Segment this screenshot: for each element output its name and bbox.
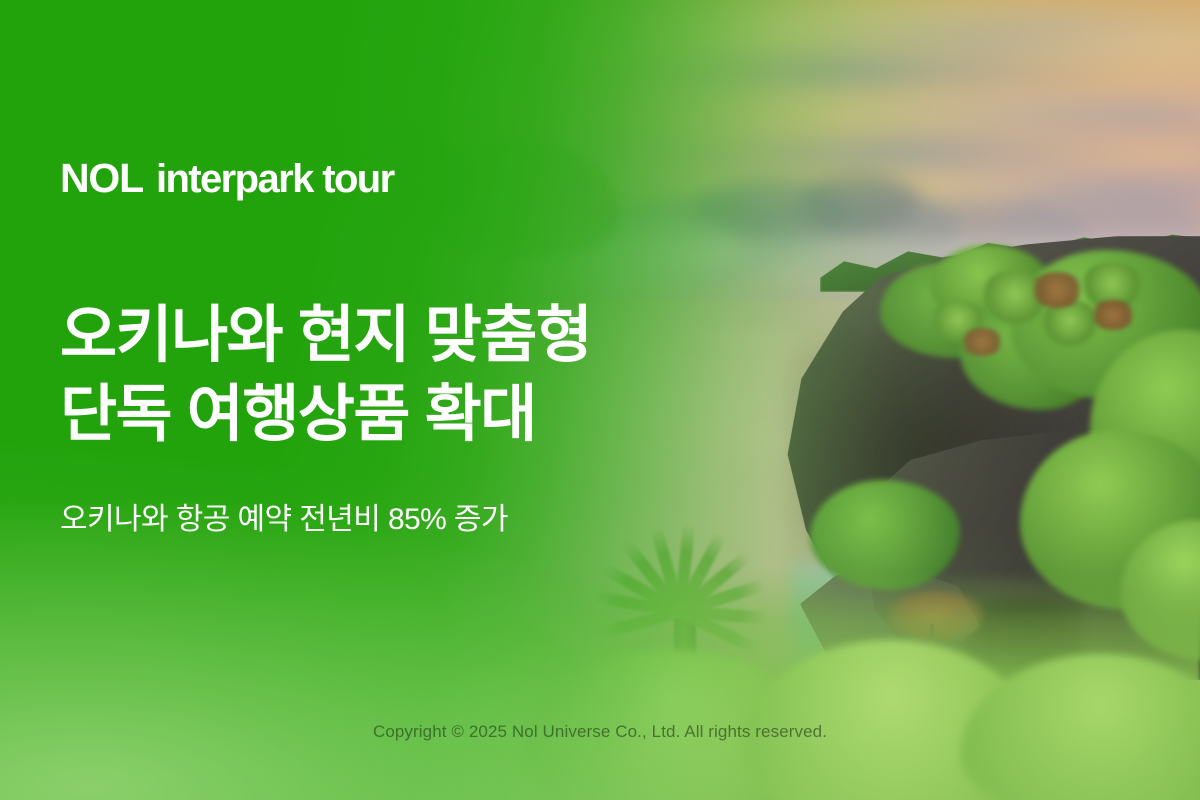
promo-banner: NOL interpark tour 오키나와 현지 맞춤형 단독 여행상품 확… bbox=[0, 0, 1200, 800]
headline-line-1: 오키나와 현지 맞춤형 bbox=[60, 296, 591, 375]
brand-logo[interactable]: NOL interpark tour bbox=[60, 158, 394, 199]
logo-interpark-tour-text: interpark tour bbox=[156, 159, 394, 199]
subheadline: 오키나와 항공 예약 전년비 85% 증가 bbox=[60, 500, 508, 541]
logo-nol-text: NOL bbox=[60, 158, 143, 199]
copyright-notice: Copyright © 2025 Nol Universe Co., Ltd. … bbox=[0, 722, 1200, 742]
headline-line-2: 단독 여행상품 확대 bbox=[60, 375, 591, 454]
banner-content: NOL interpark tour 오키나와 현지 맞춤형 단독 여행상품 확… bbox=[0, 0, 1200, 800]
headline: 오키나와 현지 맞춤형 단독 여행상품 확대 bbox=[60, 296, 591, 455]
